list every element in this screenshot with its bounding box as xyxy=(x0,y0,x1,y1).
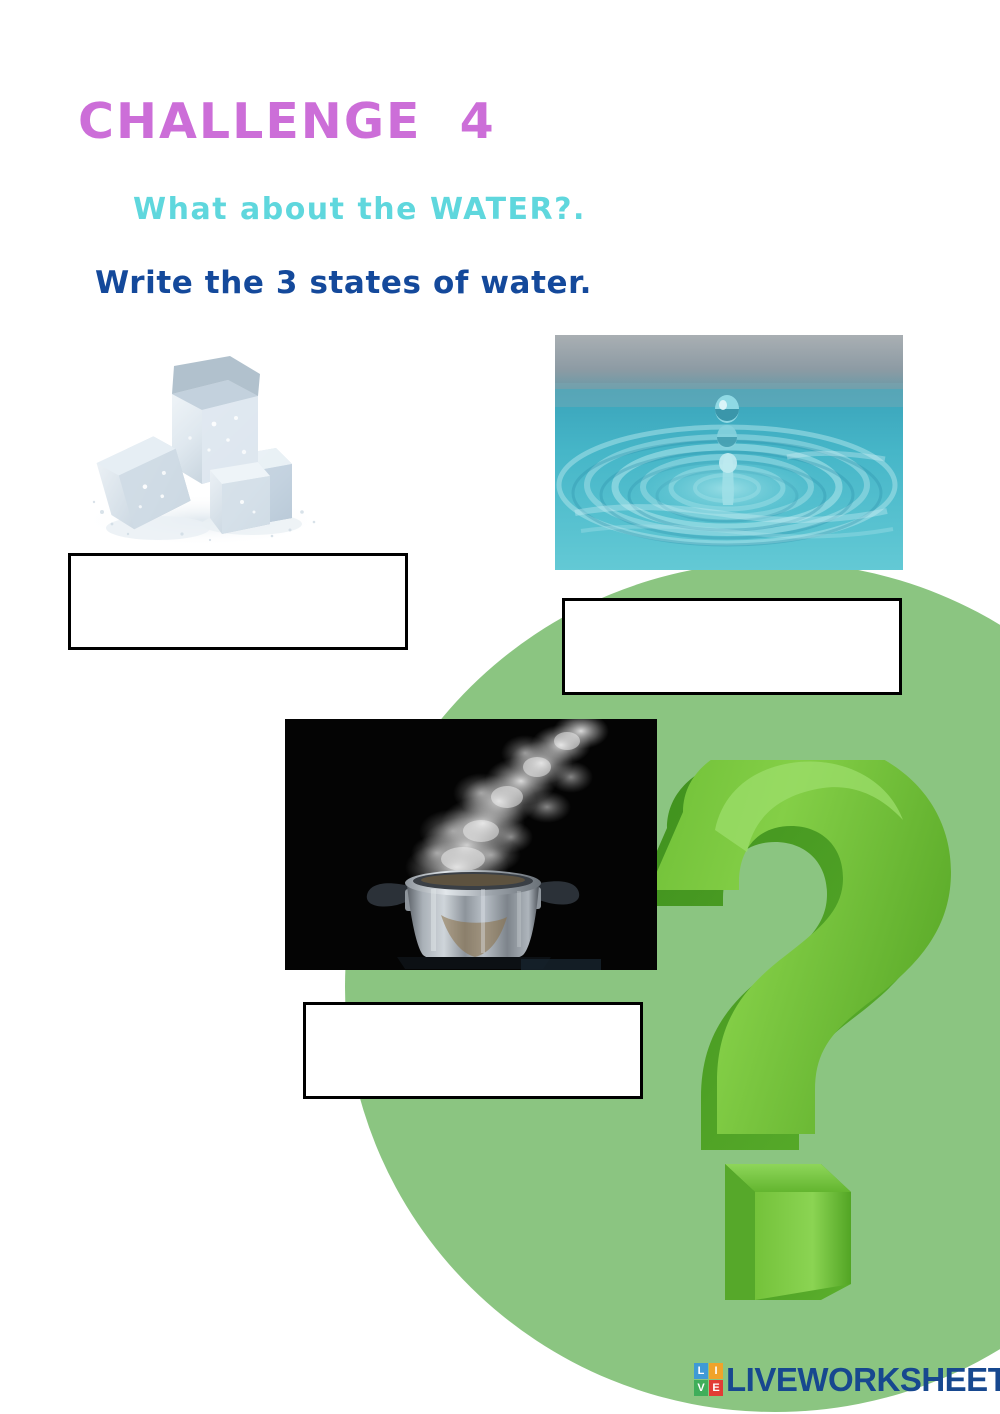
page-subtitle: What about the WATER?. xyxy=(133,192,586,227)
question-mark-3d-icon xyxy=(655,760,985,1300)
ice-cubes-photo xyxy=(62,352,350,547)
answer-box-gas[interactable] xyxy=(303,1002,643,1099)
liveworksheets-logo: L I V E LIVEWORKSHEETS xyxy=(694,1363,1000,1396)
logo-tile-v: V xyxy=(694,1380,708,1396)
worksheet-page: CHALLENGE 4 What about the WATER?. Write… xyxy=(0,0,1000,1414)
logo-tile-i: I xyxy=(709,1363,723,1379)
logo-tile-l: L xyxy=(694,1363,708,1379)
answer-box-liquid[interactable] xyxy=(562,598,902,695)
steaming-pot-photo xyxy=(285,719,657,970)
page-title: CHALLENGE 4 xyxy=(78,93,496,150)
water-drop-photo xyxy=(555,335,903,570)
answer-box-solid[interactable] xyxy=(68,553,408,650)
logo-tile-e: E xyxy=(709,1380,723,1396)
instruction-text: Write the 3 states of water. xyxy=(95,265,592,301)
liveworksheets-logo-tiles: L I V E xyxy=(694,1363,723,1396)
liveworksheets-wordmark: LIVEWORKSHEETS xyxy=(726,1363,1000,1396)
